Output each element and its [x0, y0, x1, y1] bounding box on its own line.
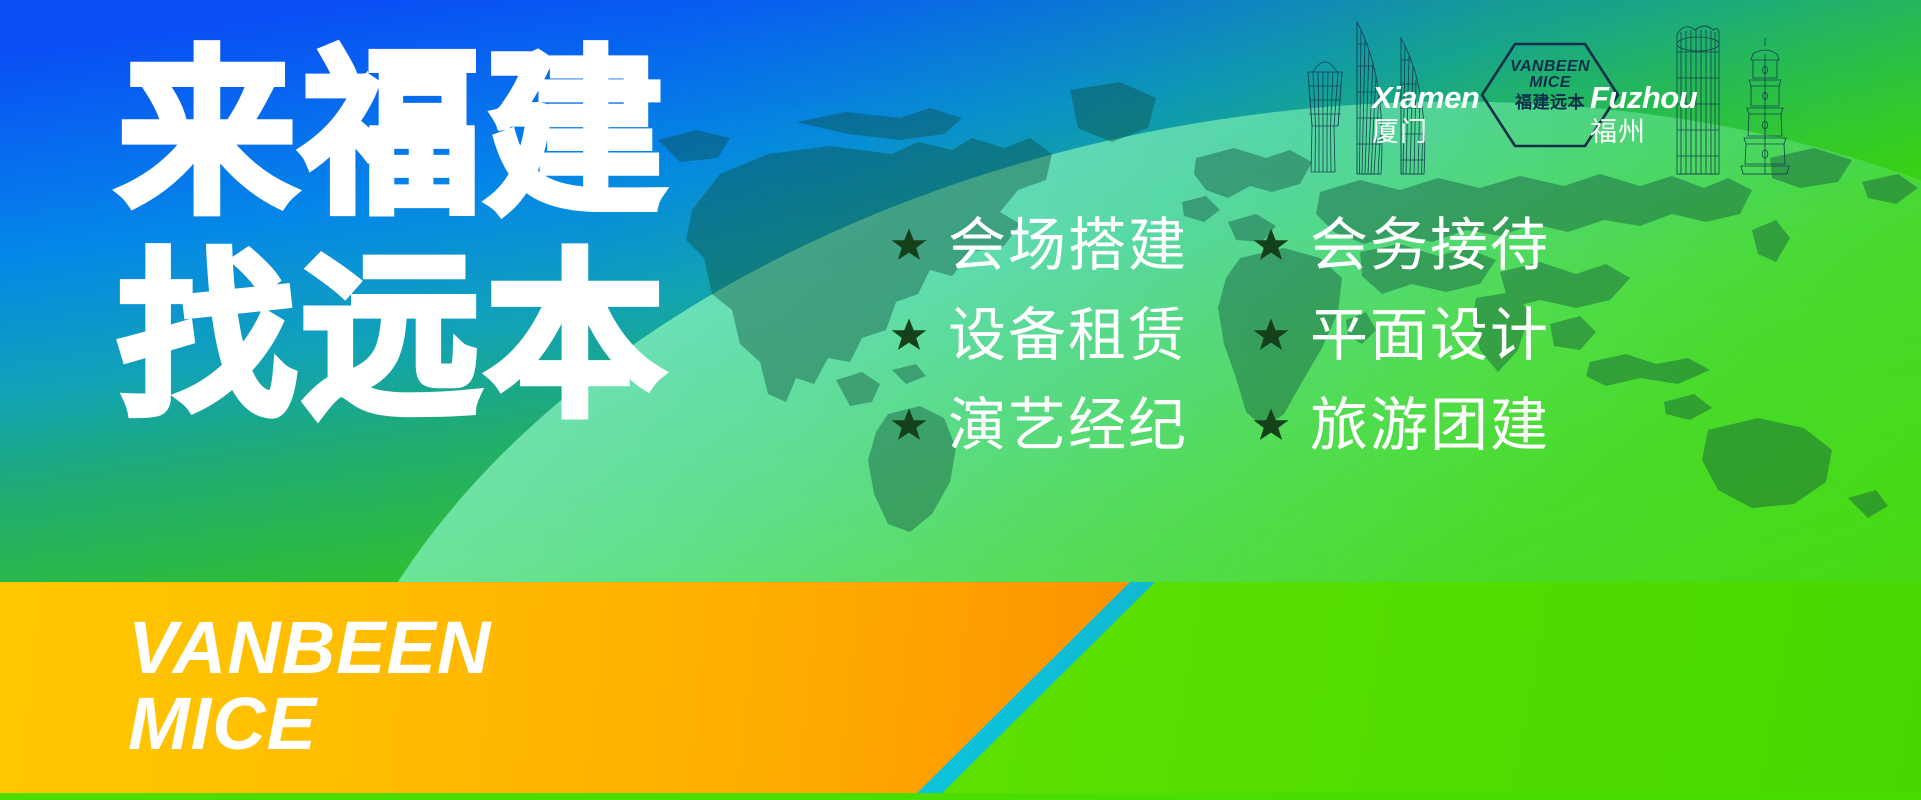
city-label-fuzhou: Fuzhou 福州: [1590, 82, 1697, 146]
star-icon: [1252, 406, 1290, 444]
city-label-xiamen: Xiamen 厦门: [1372, 82, 1479, 146]
headline-line-2: 找远本: [118, 237, 670, 440]
service-item: 会务接待: [1252, 216, 1550, 274]
services-row: 会场搭建 会务接待: [890, 208, 1550, 282]
star-icon: [890, 226, 928, 264]
services-list: 会场搭建 会务接待 设备租赁: [890, 208, 1550, 462]
city-name-cn: 厦门: [1372, 119, 1479, 146]
brand-logo-bottom: VANBEEN MICE: [128, 610, 491, 762]
star-icon: [1252, 226, 1290, 264]
services-row: 演艺经纪 旅游团建: [890, 388, 1550, 462]
service-item: 演艺经纪: [890, 396, 1218, 454]
hex-logo-line-1: VANBEEN: [1487, 59, 1613, 75]
service-item: 设备租赁: [890, 306, 1218, 364]
service-label: 会场搭建: [948, 216, 1188, 274]
brand-logo-line-2: MICE: [128, 686, 491, 762]
service-item: 平面设计: [1252, 306, 1550, 364]
service-label: 平面设计: [1310, 306, 1550, 364]
banner-bottom-bar: VANBEEN MICE: [0, 582, 1921, 800]
services-row: 设备租赁 平面设计: [890, 298, 1550, 372]
service-item: 会场搭建: [890, 216, 1218, 274]
headline: 来福建 找远本: [118, 34, 670, 440]
city-name-cn: 福州: [1590, 119, 1697, 146]
brand-logo-line-1: VANBEEN: [128, 610, 491, 686]
city-name-en: Xiamen: [1372, 82, 1479, 113]
city-landmarks-strip: VANBEEN MICE 福建远本 Xiamen 厦门 Fuzhou 福州: [1295, 4, 1815, 184]
star-icon: [1252, 316, 1290, 354]
service-label: 演艺经纪: [948, 396, 1188, 454]
promotional-banner: 来福建 找远本 会场搭建 会务接待: [0, 0, 1921, 800]
bottom-edge-strip: [0, 793, 1921, 800]
banner-top-section: 来福建 找远本 会场搭建 会务接待: [0, 0, 1921, 582]
service-label: 旅游团建: [1310, 396, 1550, 454]
headline-line-1: 来福建: [118, 34, 670, 237]
star-icon: [890, 406, 928, 444]
star-icon: [890, 316, 928, 354]
city-name-en: Fuzhou: [1590, 82, 1697, 113]
service-label: 会务接待: [1310, 216, 1550, 274]
service-label: 设备租赁: [948, 306, 1188, 364]
service-item: 旅游团建: [1252, 396, 1550, 454]
